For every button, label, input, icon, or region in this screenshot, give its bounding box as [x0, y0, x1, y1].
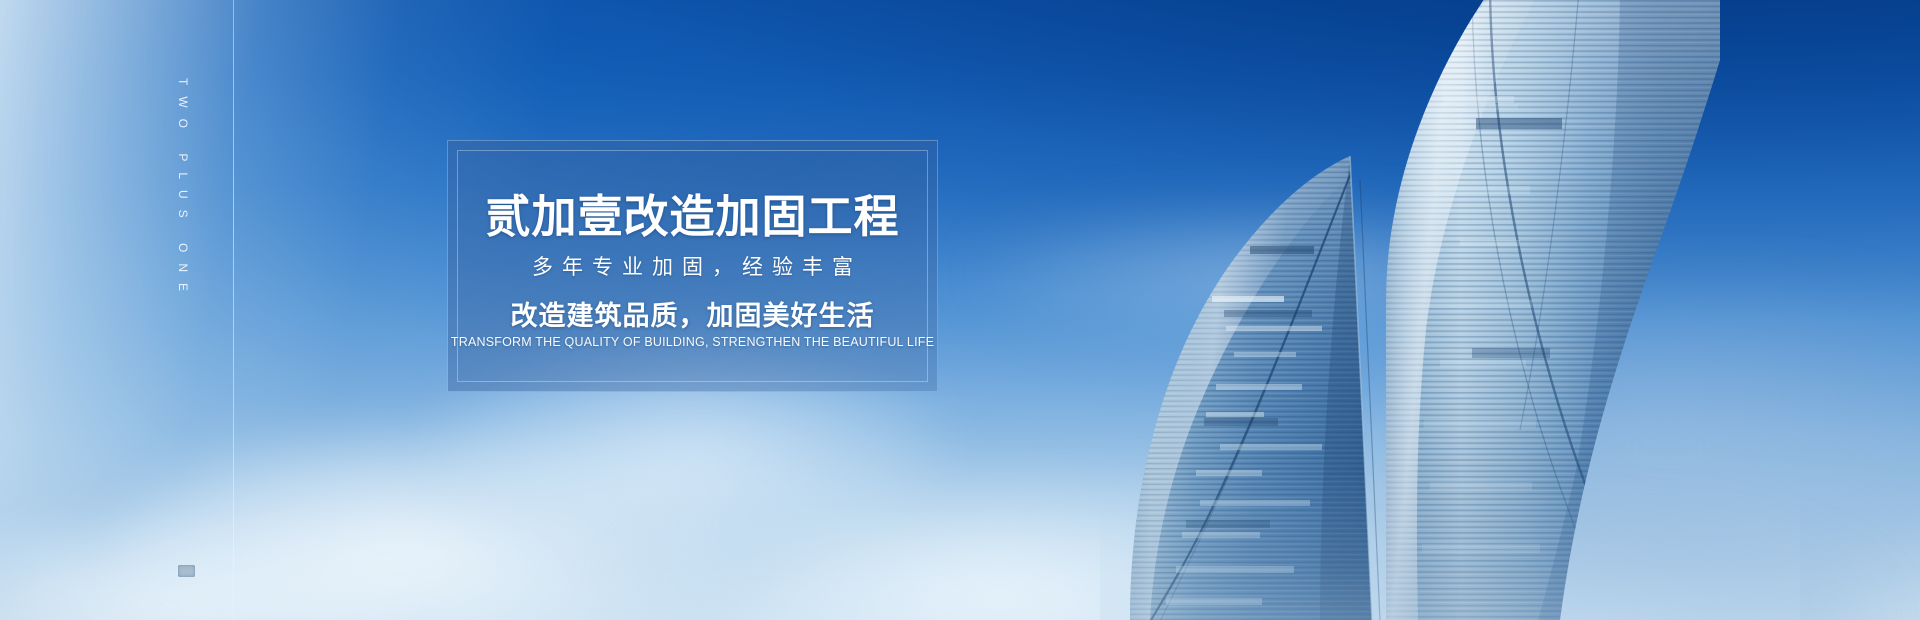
hero-banner: TWO PLUS ONE 贰加壹改造加固工程 多年专业加固，经验丰富 改造建筑品… — [0, 0, 1920, 620]
panel-subtitle: 多年专业加固，经验丰富 — [448, 251, 937, 281]
page-index-mark — [178, 565, 195, 577]
vertical-divider-line — [233, 0, 234, 620]
panel-tagline: 改造建筑品质，加固美好生活 — [448, 294, 937, 333]
sky-haze-bottom — [0, 0, 1920, 620]
panel-english-tagline: TRANSFORM THE QUALITY OF BUILDING, STREN… — [448, 335, 937, 349]
vertical-brand-text: TWO PLUS ONE — [176, 78, 190, 302]
page-title: 贰加壹改造加固工程 — [448, 180, 937, 245]
hero-text-panel: 贰加壹改造加固工程 多年专业加固，经验丰富 改造建筑品质，加固美好生活 TRAN… — [447, 140, 938, 392]
